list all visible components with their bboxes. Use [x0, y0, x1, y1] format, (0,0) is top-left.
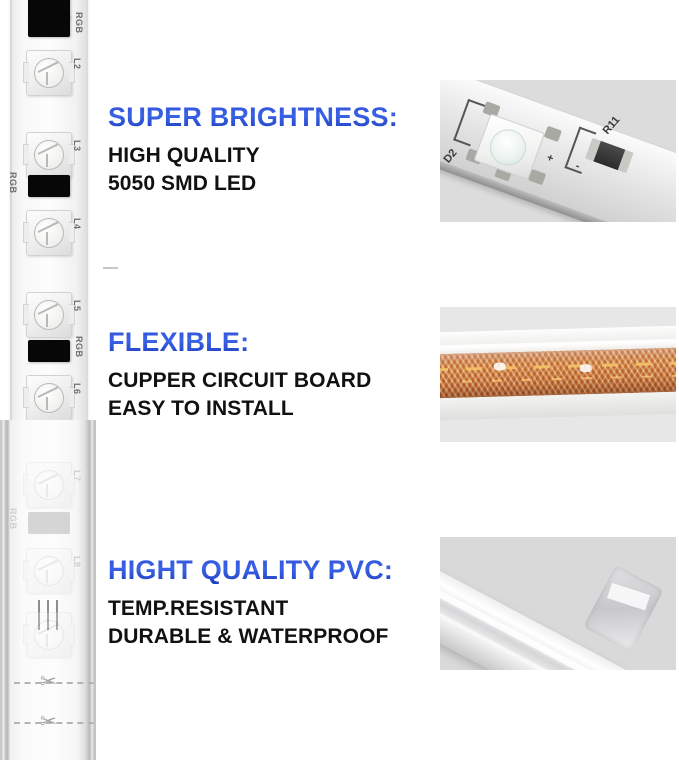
led-lens-icon: [34, 58, 64, 88]
rgb-driver-chip: [28, 512, 70, 534]
specular-glint: [580, 364, 592, 372]
feature-block-pvc: HIGHT QUALITY PVC: TEMP.RESISTANT DURABL…: [108, 556, 393, 650]
pcb-macro-photo: R11 D2 + -: [440, 80, 676, 222]
sleeve-fold-highlight: [607, 583, 650, 611]
led-lens-icon: [34, 556, 64, 586]
chip-label: RGB: [8, 172, 18, 194]
led-chip: [26, 292, 72, 338]
led-chip: [26, 548, 72, 594]
led-chip: [26, 132, 72, 178]
led-pad-left: [23, 62, 29, 83]
led-strip-diagram: RGB L2 L3 RGB L4 L5 RGB: [0, 0, 100, 757]
led-pad-left: [23, 144, 29, 165]
led-chip: [26, 462, 72, 508]
copper-circuit-photo: [440, 307, 676, 442]
feature-line-2: EASY TO INSTALL: [108, 396, 371, 422]
feature-line-1: TEMP.RESISTANT: [108, 596, 393, 622]
pcb-edge: [440, 135, 676, 222]
led-pad-right: [69, 624, 75, 645]
led-lens-icon: [34, 383, 64, 413]
silkscreen-r11: R11: [601, 114, 623, 137]
led-pad-left: [23, 387, 29, 408]
copper-braid: [440, 347, 676, 398]
led-lens-icon: [34, 620, 64, 650]
feature-heading: HIGHT QUALITY PVC:: [108, 556, 393, 584]
led-dome: [485, 124, 531, 170]
rgb-driver-chip: [28, 340, 70, 362]
chip-label: RGB: [74, 336, 84, 358]
divider-tick: [103, 267, 118, 269]
copper-wire-strand: [440, 361, 676, 371]
specular-glint: [494, 362, 506, 370]
chip-label: RGB: [74, 12, 84, 34]
led-pad-left: [23, 222, 29, 243]
led-chip: [26, 375, 72, 421]
led-label: L7: [72, 470, 82, 482]
led-label: L6: [72, 383, 82, 395]
chip-label: RGB: [8, 508, 18, 530]
pcb-board: R11 D2 + -: [440, 80, 676, 222]
cut-mark: ✂: [14, 672, 94, 694]
led-label: L3: [72, 140, 82, 152]
led-lens-icon: [34, 218, 64, 248]
smd-pad: [544, 126, 562, 142]
pvc-sleeve-photo: [440, 537, 676, 670]
feature-heading: FLEXIBLE:: [108, 328, 371, 356]
led-pad-left: [23, 304, 29, 325]
led-label: L8: [72, 556, 82, 568]
copper-wire-strand: [440, 374, 676, 383]
led-pad-left: [23, 560, 29, 581]
scissors-icon: ✂: [40, 712, 57, 732]
cut-mark: ✂: [14, 712, 94, 734]
led-pad-left: [23, 624, 29, 645]
feature-line-1: HIGH QUALITY: [108, 143, 398, 169]
led-lens-icon: [34, 470, 64, 500]
scissors-icon: ✂: [40, 672, 57, 692]
led-chip: [26, 210, 72, 256]
led-chip: [26, 50, 72, 96]
led-lens-icon: [34, 300, 64, 330]
feature-line-2: 5050 SMD LED: [108, 171, 398, 197]
led-label: L5: [72, 300, 82, 312]
led-label: L2: [72, 58, 82, 70]
led-lens-icon: [34, 140, 64, 170]
feature-line-2: DURABLE & WATERPROOF: [108, 624, 393, 650]
feature-block-flexible: FLEXIBLE: CUPPER CIRCUIT BOARD EASY TO I…: [108, 328, 371, 422]
feature-block-super-brightness: SUPER BRIGHTNESS: HIGH QUALITY 5050 SMD …: [108, 103, 398, 197]
rgb-driver-chip: [28, 175, 70, 197]
rgb-driver-chip: [28, 15, 70, 37]
led-label: L4: [72, 218, 82, 230]
led-chip: [26, 612, 72, 658]
infographic-canvas: RGB L2 L3 RGB L4 L5 RGB: [0, 0, 679, 757]
silkscreen-plus: +: [545, 152, 555, 165]
pvc-sleeve-cut-end: [583, 565, 664, 652]
feature-heading: SUPER BRIGHTNESS:: [108, 103, 398, 131]
feature-line-1: CUPPER CIRCUIT BOARD: [108, 368, 371, 394]
led-pad-left: [23, 474, 29, 495]
